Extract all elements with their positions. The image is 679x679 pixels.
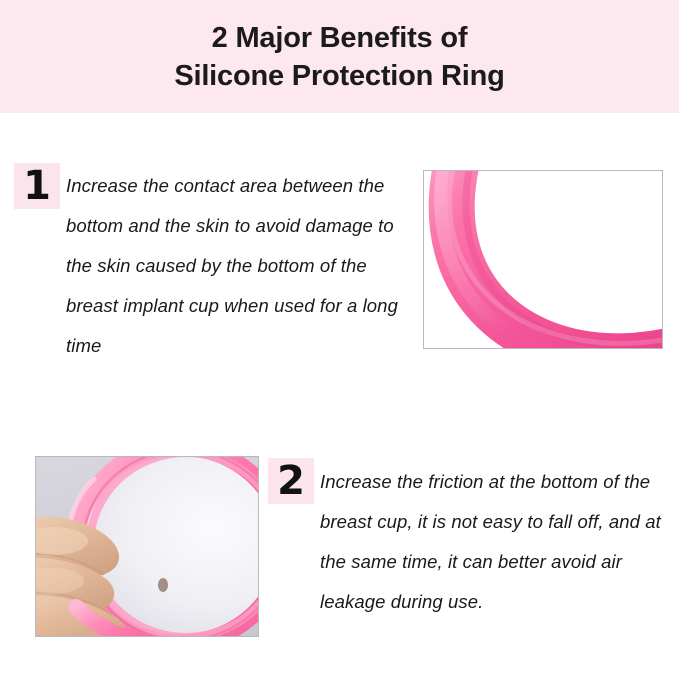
benefit-number-1: 1 [23, 166, 51, 206]
page-title-line-1: 2 Major Benefits of [212, 19, 468, 57]
ring-closeup-illustration [424, 171, 662, 348]
benefit-description-2: Increase the friction at the bottom of t… [320, 462, 670, 622]
silicone-ring-closeup-photo [423, 170, 663, 349]
benefit-number-badge-2: 2 [268, 458, 314, 504]
ring-on-cup-illustration [36, 457, 258, 636]
hand-holding-ring-on-cup-photo [35, 456, 259, 637]
benefit-description-1: Increase the contact area between the bo… [66, 166, 406, 366]
header-banner: 2 Major Benefits of Silicone Protection … [0, 0, 679, 113]
page-title-line-2: Silicone Protection Ring [174, 57, 504, 95]
benefit-number-badge-1: 1 [14, 163, 60, 209]
benefit-number-2: 2 [277, 461, 305, 501]
